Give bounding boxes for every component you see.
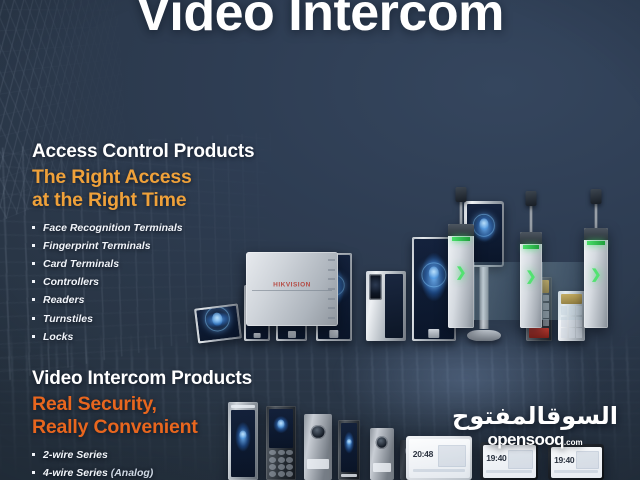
face-scan-screen xyxy=(341,423,357,472)
turnstile-arrow-icon: ❯ xyxy=(526,270,537,283)
turnstile-cap xyxy=(520,232,542,244)
keypad-key xyxy=(529,303,535,310)
video-intercom-tagline: Real Security, Really Convenient xyxy=(32,393,252,439)
turnstile: ❯ xyxy=(520,232,542,328)
keypad-key xyxy=(543,303,549,310)
keypad xyxy=(529,295,549,326)
access-control-section: Access Control Products The Right Access… xyxy=(32,141,254,346)
list-item: Card Terminals xyxy=(32,255,254,273)
keypad-key xyxy=(536,295,542,302)
watermark-brand: opensooq.com xyxy=(452,431,618,448)
panel-screen xyxy=(385,274,403,338)
keypad-key xyxy=(286,457,293,463)
list-item: Locks xyxy=(32,328,254,346)
pedestal-base xyxy=(467,330,501,341)
watermark-arabic-text: السوقالمفتوح xyxy=(452,404,618,428)
turnstile-status-led xyxy=(452,237,471,241)
access-control-bullet-list: Face Recognition Terminals Fingerprint T… xyxy=(32,219,254,345)
list-item: 2-wire Series xyxy=(32,446,252,464)
video-intercom-tagline-line2: Really Convenient xyxy=(32,416,252,439)
turnstile-camera-icon xyxy=(526,191,537,206)
turnstile-camera-stem xyxy=(595,200,598,228)
keypad-key xyxy=(529,319,535,326)
list-item: Face Recognition Terminals xyxy=(32,219,254,237)
camera-lens-icon xyxy=(311,425,326,440)
keypad-key xyxy=(269,471,276,477)
indoor-monitor: 19:40 xyxy=(480,442,538,480)
hero-title: Video Intercom xyxy=(0,0,640,43)
reader-display xyxy=(529,280,549,293)
keypad-key xyxy=(543,319,549,326)
keypad-key xyxy=(269,450,276,456)
keypad-key xyxy=(278,450,285,456)
video-intercom-heading: Video Intercom Products xyxy=(32,368,252,389)
background-glow xyxy=(330,330,630,450)
turnstile-cap xyxy=(584,228,608,240)
terminal-body xyxy=(467,204,502,265)
keypad-key xyxy=(536,311,542,318)
face-recognition-terminal-tall xyxy=(412,237,456,341)
turnstile-post: ❯ xyxy=(584,228,608,328)
access-controller-box: HIKVISION xyxy=(246,252,338,326)
turnstile-post: ❯ xyxy=(448,224,474,328)
turnstile-glass-panel xyxy=(542,262,588,320)
card-reader-keypad xyxy=(558,291,585,341)
access-control-heading: Access Control Products xyxy=(32,141,254,162)
access-control-tagline-line1: The Right Access xyxy=(32,166,254,189)
keypad-key xyxy=(561,317,567,327)
panel-body xyxy=(366,271,406,341)
turnstile-status-led xyxy=(523,245,539,249)
turnstile-glass-panel xyxy=(474,262,520,320)
video-intercom-product-lineup: 20:48 19:40 19:40 xyxy=(228,398,640,480)
keypad-key xyxy=(529,295,535,302)
keypad-key xyxy=(543,295,549,302)
turnstile-arrow-icon: ❯ xyxy=(456,265,467,278)
keypad-key xyxy=(569,317,575,327)
fingerprint-sensor-icon xyxy=(529,328,549,338)
name-plate xyxy=(307,459,328,470)
monitor-status-bar xyxy=(486,470,532,473)
controller-vents xyxy=(328,259,335,318)
name-plate xyxy=(341,474,357,477)
turnstile-group: ❯ ❯ ❯ xyxy=(448,186,640,336)
controller-brand-label: HIKVISION xyxy=(273,281,311,288)
reader-display xyxy=(561,294,582,304)
card-reader-pad xyxy=(287,331,295,338)
turnstile-camera-stem xyxy=(460,198,463,224)
turnstile-camera-icon xyxy=(456,187,467,202)
vent-slot xyxy=(328,269,335,271)
monitor-clock: 20:48 xyxy=(413,450,433,459)
keypad-key xyxy=(286,450,293,456)
face-scan-screen xyxy=(467,204,502,265)
watermark-tld: .com xyxy=(564,438,583,447)
access-control-tagline: The Right Access at the Right Time xyxy=(32,166,254,212)
controller-seam xyxy=(252,290,333,291)
list-item-qualifier: (Analog) xyxy=(111,467,154,479)
indoor-monitor: 20:48 xyxy=(406,436,472,480)
keypad xyxy=(561,306,582,338)
vent-slot xyxy=(328,298,335,300)
turnstile-cap xyxy=(448,224,474,236)
monitor-panel-tile xyxy=(576,451,599,469)
monitor-screen: 19:40 xyxy=(483,445,536,478)
monitor-status-bar xyxy=(413,469,465,473)
keypad-key xyxy=(286,471,293,477)
card-reader-pad xyxy=(329,330,338,338)
keypad-key xyxy=(561,306,567,316)
turnstile-arrow-icon: ❯ xyxy=(591,268,602,281)
list-item: 4-wire Series (Analog) xyxy=(32,464,252,480)
keypad-key xyxy=(269,464,276,470)
camera-panel-terminal xyxy=(366,271,406,341)
turnstile-camera-stem xyxy=(530,202,533,232)
turnstile-status-led xyxy=(587,241,604,245)
monitor-screen: 20:48 xyxy=(409,439,470,478)
pedestal-stem xyxy=(480,267,489,329)
monitor-clock: 19:40 xyxy=(554,456,574,465)
watermark-brand-name: opensooq xyxy=(487,430,563,449)
monitor-screen: 19:40 xyxy=(551,447,602,478)
monitor-panel-tile xyxy=(438,445,466,468)
door-station-modular xyxy=(266,406,296,480)
poster-canvas: Video Intercom Access Control Products T… xyxy=(0,0,640,480)
keypad-key xyxy=(286,464,293,470)
keypad-key xyxy=(569,328,575,338)
video-intercom-section: Video Intercom Products Real Security, R… xyxy=(32,368,252,480)
list-item: Turnstiles xyxy=(32,310,254,328)
vent-slot xyxy=(328,288,335,290)
door-station-compact xyxy=(338,420,360,480)
door-station-mini xyxy=(400,440,419,480)
pedestal-face-terminal xyxy=(464,201,504,341)
keypad xyxy=(269,450,293,477)
video-intercom-tagline-line1: Real Security, xyxy=(32,393,252,416)
camera-lens-icon xyxy=(376,436,388,448)
keypad-key xyxy=(536,303,542,310)
monitor-clock: 19:40 xyxy=(486,454,506,463)
list-item: Controllers xyxy=(32,273,254,291)
keypad-key xyxy=(576,317,582,327)
camera-lens-icon xyxy=(369,274,382,300)
turnstile-post: ❯ xyxy=(520,232,542,328)
vent-slot xyxy=(328,278,335,280)
turnstile: ❯ xyxy=(584,228,608,328)
door-station-camera-module xyxy=(304,414,332,480)
monitor-status-bar xyxy=(554,470,598,473)
keypad-key xyxy=(278,464,285,470)
keypad-key xyxy=(576,306,582,316)
list-item: Readers xyxy=(32,291,254,309)
opensooq-watermark: السوقالمفتوح opensooq.com xyxy=(452,404,618,448)
video-intercom-bullet-list: 2-wire Series 4-wire Series (Analog) xyxy=(32,446,252,480)
list-item: Fingerprint Terminals xyxy=(32,237,254,255)
name-plate xyxy=(373,463,391,471)
camera-lens-icon xyxy=(405,446,415,456)
vent-slot xyxy=(328,307,335,309)
vent-slot xyxy=(328,259,335,261)
face-scan-screen xyxy=(269,409,293,448)
vent-slot xyxy=(328,317,335,319)
access-control-tagline-line2: at the Right Time xyxy=(32,189,254,212)
keypad-key xyxy=(269,457,276,463)
keypad-key xyxy=(278,457,285,463)
keypad-key xyxy=(529,311,535,318)
card-reader-pad xyxy=(428,329,439,338)
card-reader-pad xyxy=(254,333,261,338)
indoor-monitor: 19:40 xyxy=(548,444,604,480)
keypad-key xyxy=(561,328,567,338)
door-station-outdoor xyxy=(370,428,394,480)
turnstile-camera-icon xyxy=(591,189,602,204)
pedestal-terminal-head xyxy=(464,201,504,267)
keypad-key xyxy=(576,328,582,338)
keypad-key xyxy=(543,311,549,318)
keypad-key xyxy=(536,319,542,326)
keypad-key xyxy=(569,306,575,316)
fingerprint-keypad-reader xyxy=(526,277,552,341)
face-scan-screen xyxy=(414,239,454,339)
monitor-panel-tile xyxy=(508,450,532,469)
turnstile: ❯ xyxy=(448,224,474,328)
keypad-key xyxy=(278,471,285,477)
